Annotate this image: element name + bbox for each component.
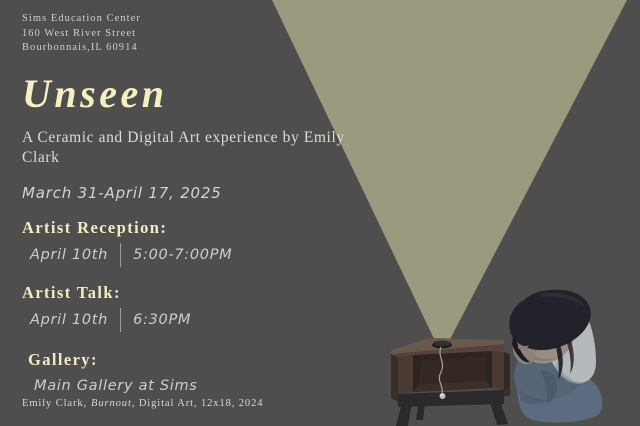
- seated-figure-icon: [509, 290, 602, 423]
- event-reception-date: April 10th: [30, 247, 108, 263]
- gallery-location: Main Gallery at Sims: [34, 378, 198, 394]
- venue-city-state-zip: Bourbonnais,IL 60914: [22, 41, 382, 56]
- caption-details: , Digital Art, 12x18, 2024: [132, 398, 264, 409]
- venue-street: 160 West River Street: [22, 27, 382, 42]
- venue-name: Sims Education Center: [22, 12, 382, 27]
- reception-divider: [120, 243, 121, 267]
- wooden-console-icon: [391, 338, 510, 426]
- event-reception-heading: Artist Reception:: [22, 218, 382, 238]
- event-talk-date: April 10th: [30, 312, 108, 328]
- event-talk-heading: Artist Talk:: [22, 283, 382, 303]
- caption-work-title: Burnout: [91, 398, 132, 409]
- event-artist-talk: Artist Talk: April 10th 6:30PM: [22, 283, 382, 332]
- event-artist-reception: Artist Reception: April 10th 5:00-7:00PM: [22, 218, 382, 267]
- exhibition-title: Unseen: [22, 72, 382, 116]
- gallery-block: Gallery: Main Gallery at Sims: [22, 350, 382, 395]
- event-reception-time: 5:00-7:00PM: [133, 247, 232, 263]
- talk-divider: [120, 308, 121, 332]
- artwork-caption: Emily Clark,Burnout, Digital Art, 12x18,…: [22, 398, 263, 409]
- exhibition-date-range: March 31-April 17, 2025: [22, 184, 382, 202]
- event-talk-detail: April 10th 6:30PM: [22, 308, 382, 332]
- exhibition-subtitle: A Ceramic and Digital Art experience by …: [22, 128, 352, 168]
- poster-canvas: Sims Education Center 160 West River Str…: [0, 0, 640, 426]
- poster-text-column: Sims Education Center 160 West River Str…: [22, 12, 382, 395]
- gallery-location-row: Main Gallery at Sims: [28, 377, 382, 395]
- event-reception-detail: April 10th 5:00-7:00PM: [22, 243, 382, 267]
- caption-artist: Emily Clark,: [22, 398, 87, 409]
- gallery-heading: Gallery:: [28, 350, 382, 370]
- venue-address: Sims Education Center 160 West River Str…: [22, 12, 382, 56]
- event-talk-time: 6:30PM: [133, 312, 191, 328]
- hanging-cord-icon: [439, 347, 445, 399]
